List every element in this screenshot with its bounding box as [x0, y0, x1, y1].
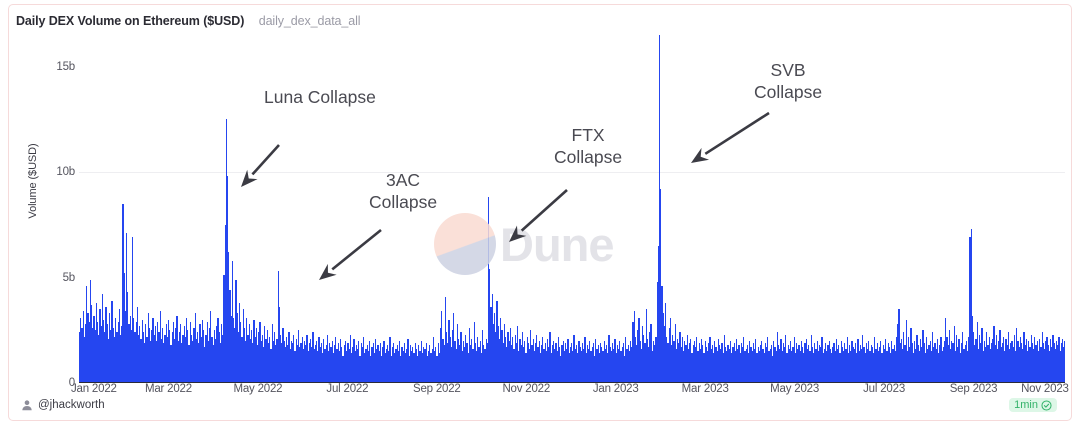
y-axis-ticks: 05b10b15b — [9, 35, 75, 383]
y-axis-tick: 0 — [31, 377, 75, 389]
bar-series[interactable] — [79, 35, 1065, 383]
author-name: @jhackworth — [38, 399, 105, 411]
y-axis-tick: 15b — [31, 61, 75, 73]
check-circle-icon — [1041, 400, 1052, 411]
plot-area: Volume ($USD) 05b10b15b Dune Luna Collap… — [9, 35, 1072, 383]
x-axis-tick: May 2023 — [770, 383, 819, 395]
x-axis-tick: May 2022 — [233, 383, 282, 395]
x-axis-tick: Jan 2023 — [593, 383, 639, 395]
refresh-interval-badge[interactable]: 1min — [1009, 398, 1057, 412]
query-name-label[interactable]: daily_dex_data_all — [259, 14, 361, 28]
chart-footer: @jhackworth 1min — [9, 398, 1071, 420]
page-title: Daily DEX Volume on Ethereum ($USD) — [16, 14, 244, 28]
chart-annotation: Luna Collapse — [264, 87, 376, 109]
chart-annotation: SVB Collapse — [754, 60, 822, 104]
y-axis-tick: 10b — [31, 166, 75, 178]
chart-annotation: 3AC Collapse — [369, 170, 437, 214]
x-axis-tick: Mar 2023 — [682, 383, 729, 395]
bar[interactable] — [1064, 341, 1065, 383]
x-axis-tick: Nov 2022 — [502, 383, 550, 395]
x-axis-tick: Sep 2022 — [413, 383, 461, 395]
dune-chart-card: Daily DEX Volume on Ethereum ($USD) dail… — [8, 4, 1072, 421]
x-axis-tick: Sep 2023 — [950, 383, 998, 395]
chart-annotation: FTX Collapse — [554, 125, 622, 169]
author-credit[interactable]: @jhackworth — [21, 399, 105, 411]
x-axis-tick: Jul 2023 — [863, 383, 905, 395]
x-axis-tick: Nov 2023 — [1021, 383, 1069, 395]
avatar-icon — [21, 399, 33, 411]
chart-header: Daily DEX Volume on Ethereum ($USD) dail… — [9, 5, 1071, 35]
x-axis-tick: Mar 2022 — [145, 383, 192, 395]
x-axis-tick: Jan 2022 — [71, 383, 117, 395]
refresh-interval-label: 1min — [1014, 399, 1038, 411]
y-axis-tick: 5b — [31, 272, 75, 284]
x-axis-tick: Jul 2022 — [326, 383, 368, 395]
